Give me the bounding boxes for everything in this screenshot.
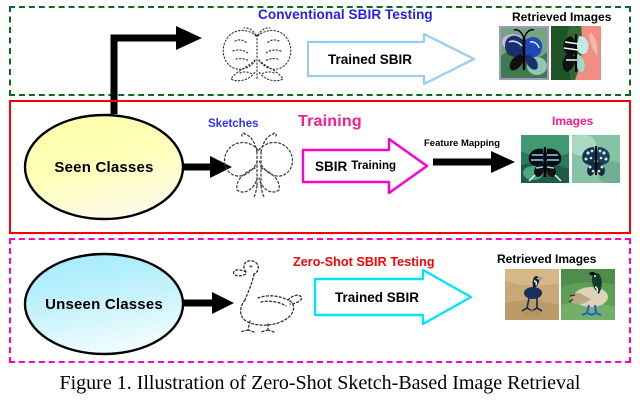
images-label: Images <box>552 114 593 128</box>
training-title: Training <box>298 113 362 131</box>
training-image-thumbnails <box>521 135 620 183</box>
blue-monarch-butterfly-photo <box>499 26 549 80</box>
retrieved-thumbnails-zeroshot <box>505 269 615 320</box>
black-blue-swallowtail-butterfly-photo <box>521 135 569 183</box>
trained-sbir-arrow-conventional: Trained SBIR <box>306 32 476 86</box>
trained-sbir-arrow-zeroshot: Trained SBIR <box>313 268 473 326</box>
butterfly-sketch-training <box>215 132 301 204</box>
sbir-training-arrow: SBIR Training <box>301 136 429 196</box>
zero-shot-sbir-testing-title: Zero-Shot SBIR Testing <box>293 255 435 269</box>
duck-on-sand-photo <box>505 269 559 320</box>
arrow-feature-mapping <box>433 148 517 176</box>
butterfly-sketch-conventional <box>218 27 296 85</box>
duck-sketch-zeroshot <box>228 258 306 334</box>
retrieved-images-label-conventional: Retrieved Images <box>512 10 611 24</box>
figure-caption: Figure 1. Illustration of Zero-Shot Sket… <box>0 372 640 395</box>
retrieved-images-label-zeroshot: Retrieved Images <box>497 252 596 266</box>
unseen-classes-ellipse: Unseen Classes <box>22 252 186 356</box>
figure-canvas: Conventional SBIR Testing <box>0 0 640 404</box>
retrieved-thumbnails-conventional <box>499 26 601 80</box>
conventional-sbir-testing-title: Conventional SBIR Testing <box>258 7 433 22</box>
seen-classes-ellipse: Seen Classes <box>22 113 186 221</box>
spotted-butterfly-on-green-photo <box>572 135 620 183</box>
sketches-label: Sketches <box>208 118 259 130</box>
goose-on-grass-photo <box>561 269 615 320</box>
swallowtail-butterfly-on-pink-flower-photo <box>551 26 601 80</box>
